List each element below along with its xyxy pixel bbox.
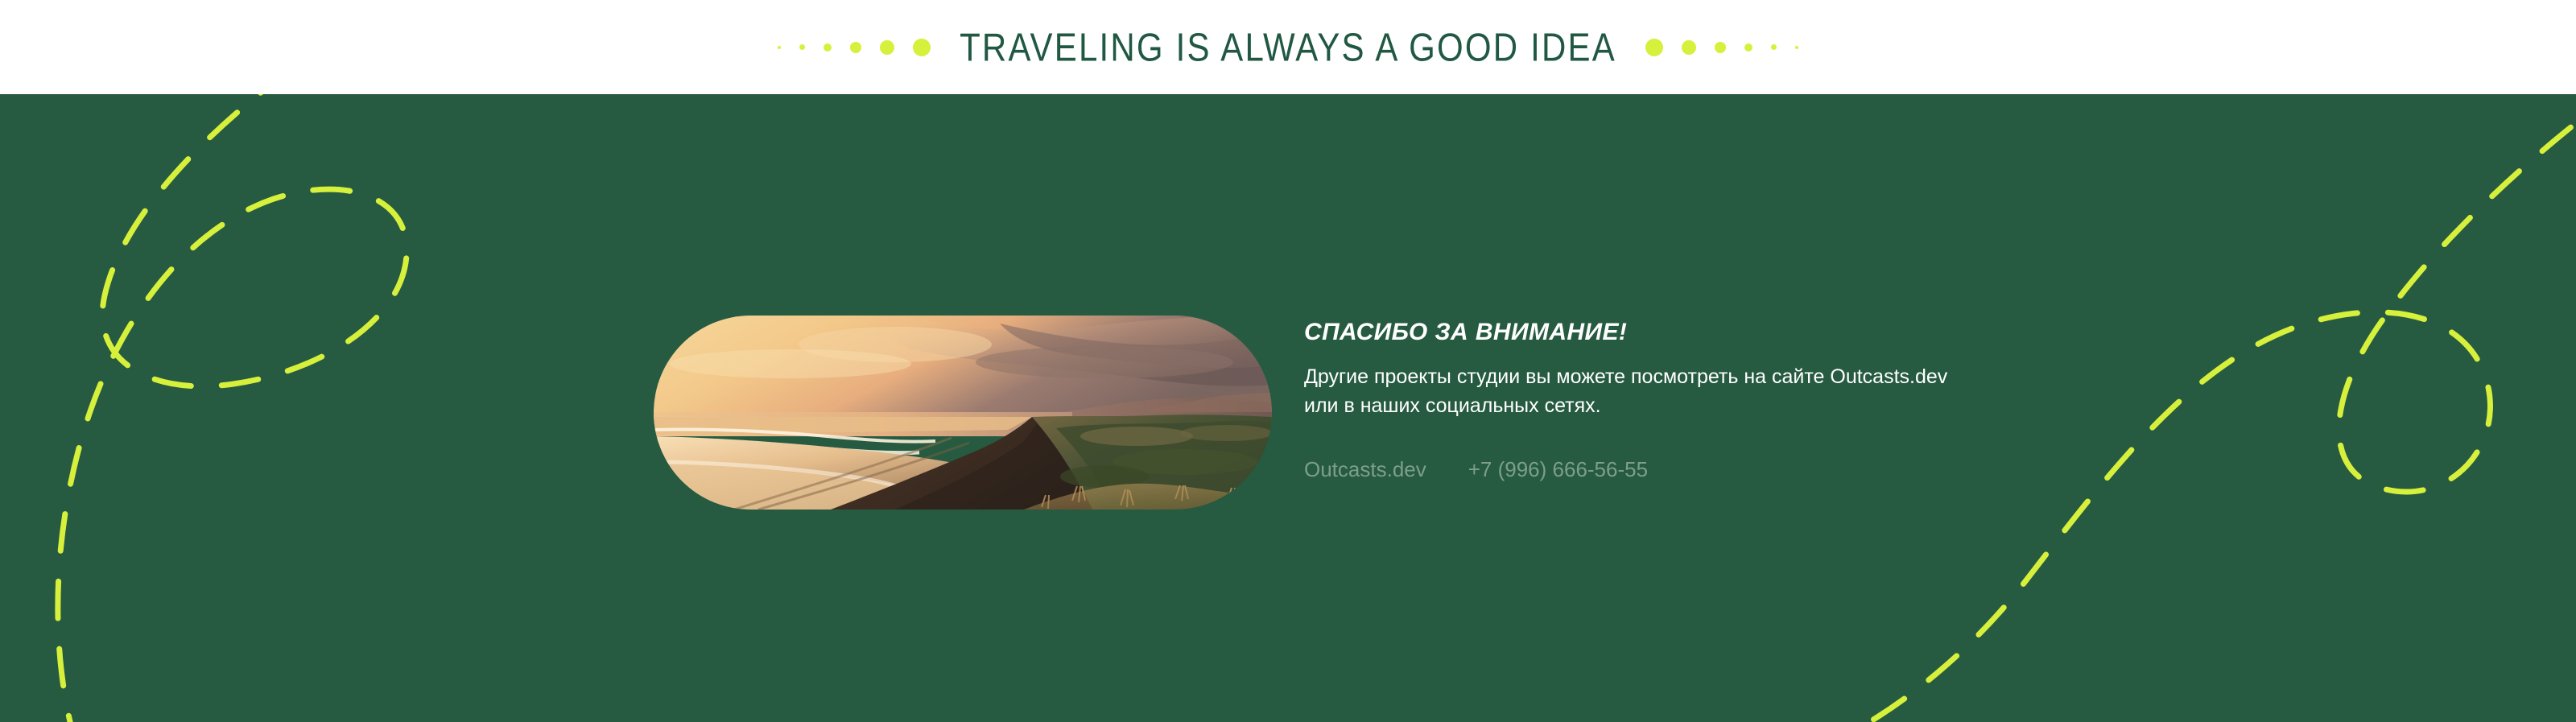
contacts-row: Outcasts.dev +7 (996) 666-56-55	[1304, 457, 1964, 482]
header-dot-right-4	[1744, 43, 1752, 52]
contact-website[interactable]: Outcasts.dev	[1304, 457, 1426, 482]
header-dot-right-3	[1715, 42, 1726, 53]
header-dot-left-2	[799, 44, 805, 50]
contact-phone[interactable]: +7 (996) 666-56-55	[1468, 457, 1648, 482]
header-dot-left-5	[880, 40, 894, 55]
header-dot-right-6	[1795, 46, 1798, 49]
header-dots-right	[1645, 39, 1798, 56]
header-dot-right-2	[1682, 40, 1696, 55]
header-dot-right-5	[1771, 44, 1777, 50]
thanks-text-block: СПАСИБО ЗА ВНИМАНИЕ! Другие проекты студ…	[1304, 316, 1964, 482]
slide-header-title: TRAVELING IS ALWAYS A GOOD IDEA	[960, 27, 1616, 68]
thanks-heading: СПАСИБО ЗА ВНИМАНИЕ!	[1304, 319, 1964, 345]
slide-header-bar: TRAVELING IS ALWAYS A GOOD IDEA	[0, 0, 2576, 94]
slide-body: СПАСИБО ЗА ВНИМАНИЕ! Другие проекты студ…	[0, 94, 2576, 722]
header-dot-left-4	[850, 42, 861, 53]
photo-illustration	[654, 316, 1272, 510]
header-dot-right-1	[1645, 39, 1663, 56]
left-dashed-loop-icon	[58, 94, 407, 722]
sunset-coastal-photo	[654, 316, 1272, 510]
slide-content-row: СПАСИБО ЗА ВНИМАНИЕ! Другие проекты студ…	[654, 316, 1964, 510]
header-dots-left	[778, 39, 931, 56]
header-dot-left-6	[913, 39, 931, 56]
thanks-paragraph: Другие проекты студии вы можете посмотре…	[1304, 363, 1948, 420]
header-dot-left-1	[778, 46, 781, 49]
presentation-slide: TRAVELING IS ALWAYS A GOOD IDEA	[0, 0, 2576, 722]
header-dot-left-3	[824, 43, 832, 52]
